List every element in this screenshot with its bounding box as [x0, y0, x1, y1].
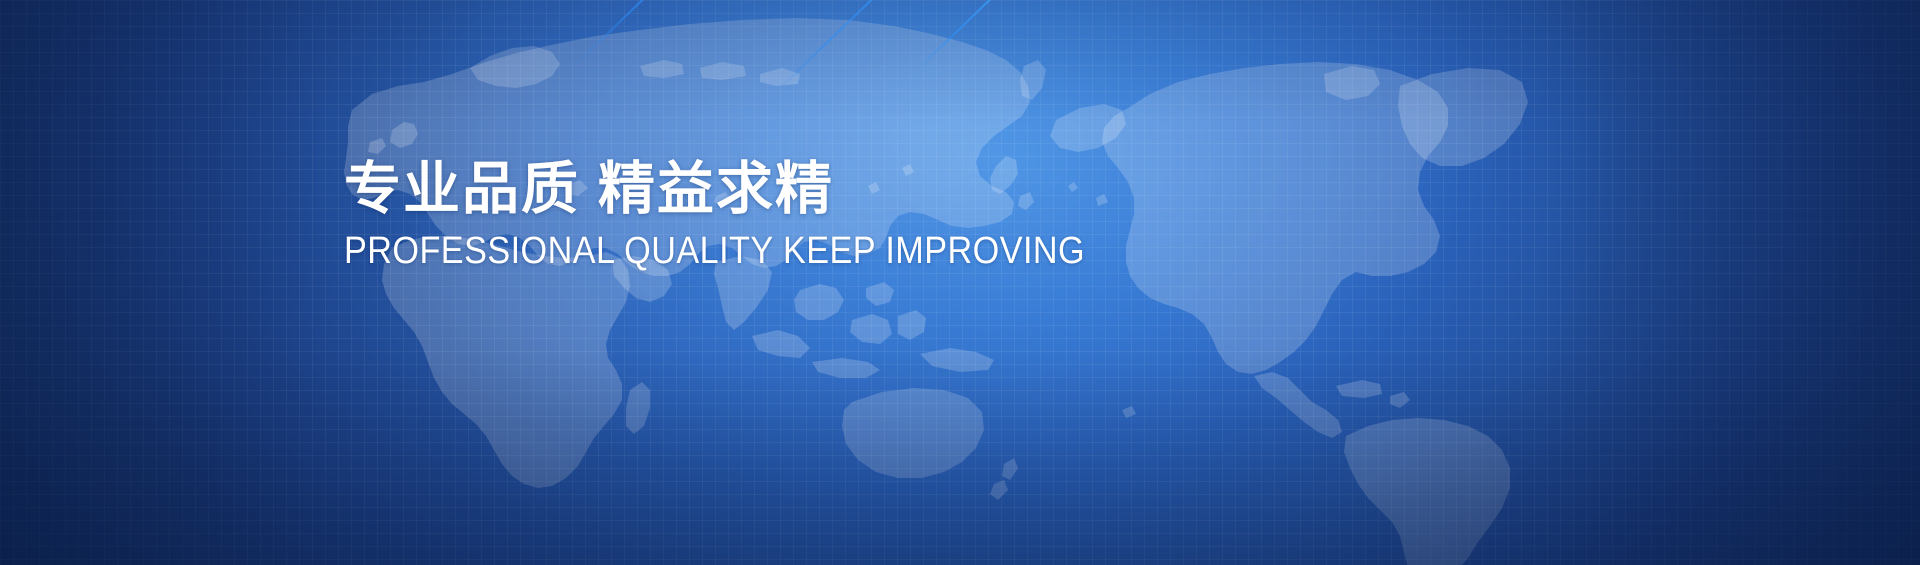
hero-banner: 专业品质 精益求精 PROFESSIONAL QUALITY KEEP IMPR…	[0, 0, 1920, 565]
banner-copy: 专业品质 精益求精 PROFESSIONAL QUALITY KEEP IMPR…	[344, 160, 1444, 272]
corner-vignette	[0, 0, 1920, 565]
banner-headline: 专业品质 精益求精	[344, 160, 1444, 218]
banner-subheadline: PROFESSIONAL QUALITY KEEP IMPROVING	[344, 232, 1334, 272]
